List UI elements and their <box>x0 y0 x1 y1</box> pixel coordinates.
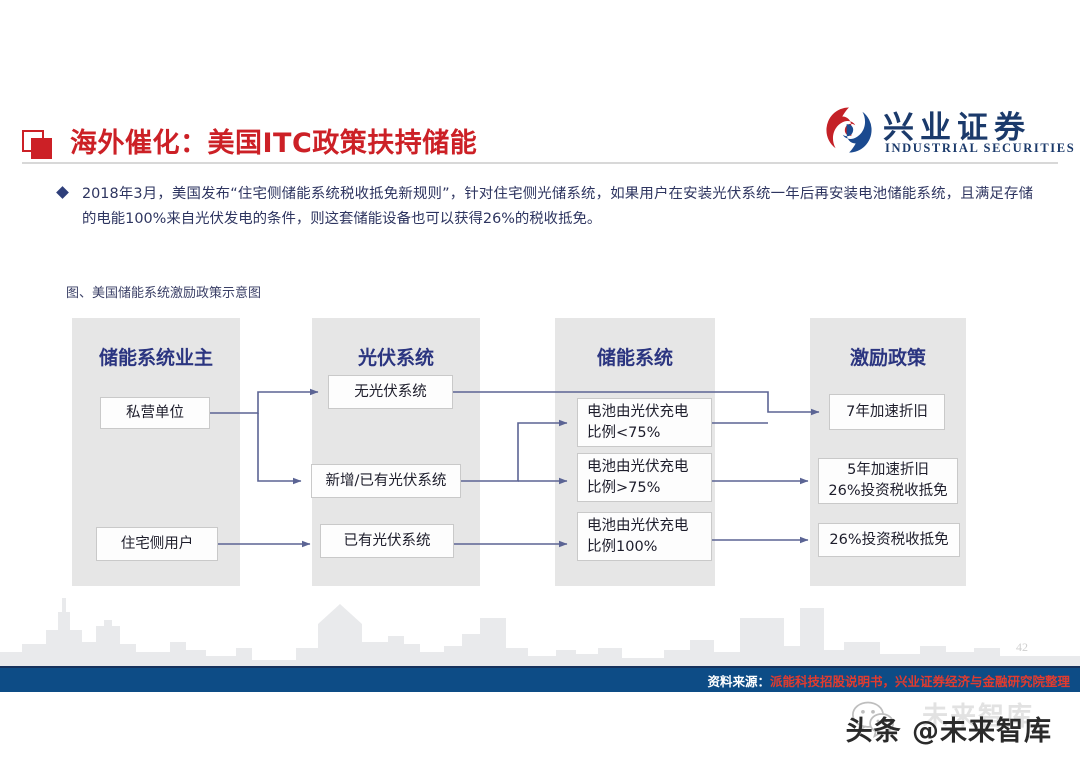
node-line: 5年加速折旧 <box>828 460 947 481</box>
bullet-text: 2018年3月，美国发布“住宅侧储能系统税收抵免新规则”，针对住宅侧光储系统，如… <box>82 182 1033 232</box>
brand-name-en: INDUSTRIAL SECURITIES <box>885 141 1075 156</box>
node-line: 比例<75% <box>587 423 689 444</box>
figure-caption: 图、美国储能系统激励政策示意图 <box>66 282 261 301</box>
brand-logo: 兴业证券 INDUSTRIAL SECURITIES <box>825 100 1025 162</box>
node-line: 比例>75% <box>587 478 689 499</box>
node-line: 住宅侧用户 <box>121 534 194 555</box>
node-line: 电池由光伏充电 <box>587 516 689 537</box>
city-skyline-decoration <box>0 590 1080 668</box>
diagram-node-nopv: 无光伏系统 <box>328 375 453 409</box>
diagram-node-dep7: 7年加速折旧 <box>829 394 945 430</box>
page-number: 42 <box>1016 640 1028 655</box>
node-line: 无光伏系统 <box>354 382 427 403</box>
column-title-pv: 光伏系统 <box>312 343 480 370</box>
diagram-node-dep5: 5年加速折旧26%投资税收抵免 <box>818 458 958 504</box>
header-divider <box>22 162 1058 164</box>
diamond-bullet-icon <box>56 186 69 199</box>
node-line: 电池由光伏充电 <box>587 457 689 478</box>
diagram-node-itc26: 26%投资税收抵免 <box>818 523 960 557</box>
watermark-text: 头条 @未来智库 <box>846 709 1052 748</box>
double-square-icon <box>22 130 62 158</box>
bullet-paragraph: 2018年3月，美国发布“住宅侧储能系统税收抵免新规则”，针对住宅侧光储系统，如… <box>58 182 1033 232</box>
node-line: 已有光伏系统 <box>344 531 431 552</box>
node-line: 比例100% <box>587 537 689 558</box>
flow-diagram: 储能系统业主光伏系统储能系统激励政策 <box>0 318 1080 588</box>
watermark: 未来智库 头条 @未来智库 <box>792 700 1052 752</box>
diagram-node-lt75: 电池由光伏充电比例<75% <box>577 398 712 447</box>
node-line: 26%投资税收抵免 <box>828 481 947 502</box>
diagram-node-existpv: 已有光伏系统 <box>320 524 454 558</box>
diagram-node-newpv: 新增/已有光伏系统 <box>311 464 461 498</box>
column-title-owner: 储能系统业主 <box>72 343 240 370</box>
diagram-node-private: 私营单位 <box>100 397 210 429</box>
swirl-logo-icon <box>825 106 873 154</box>
source-note: 资料来源：派能科技招股说明书，兴业证券经济与金融研究院整理 <box>707 671 1070 690</box>
diagram-node-gt75: 电池由光伏充电比例>75% <box>577 453 712 502</box>
source-label: 资料来源： <box>707 674 770 689</box>
column-title-storage: 储能系统 <box>555 343 715 370</box>
diagram-node-100: 电池由光伏充电比例100% <box>577 512 712 561</box>
node-line: 26%投资税收抵免 <box>829 530 948 551</box>
page-title: 海外催化：美国ITC政策扶持储能 <box>70 121 477 160</box>
node-line: 电池由光伏充电 <box>587 402 689 423</box>
node-line: 新增/已有光伏系统 <box>326 471 447 492</box>
column-title-incentive: 激励政策 <box>810 343 966 370</box>
source-value: 派能科技招股说明书，兴业证券经济与金融研究院整理 <box>770 674 1070 689</box>
diagram-node-resident: 住宅侧用户 <box>96 527 218 561</box>
node-line: 7年加速折旧 <box>846 402 928 423</box>
slide-page: 海外催化：美国ITC政策扶持储能 兴业证券 INDUSTRIAL SECURIT… <box>0 0 1080 764</box>
node-line: 私营单位 <box>126 403 184 424</box>
